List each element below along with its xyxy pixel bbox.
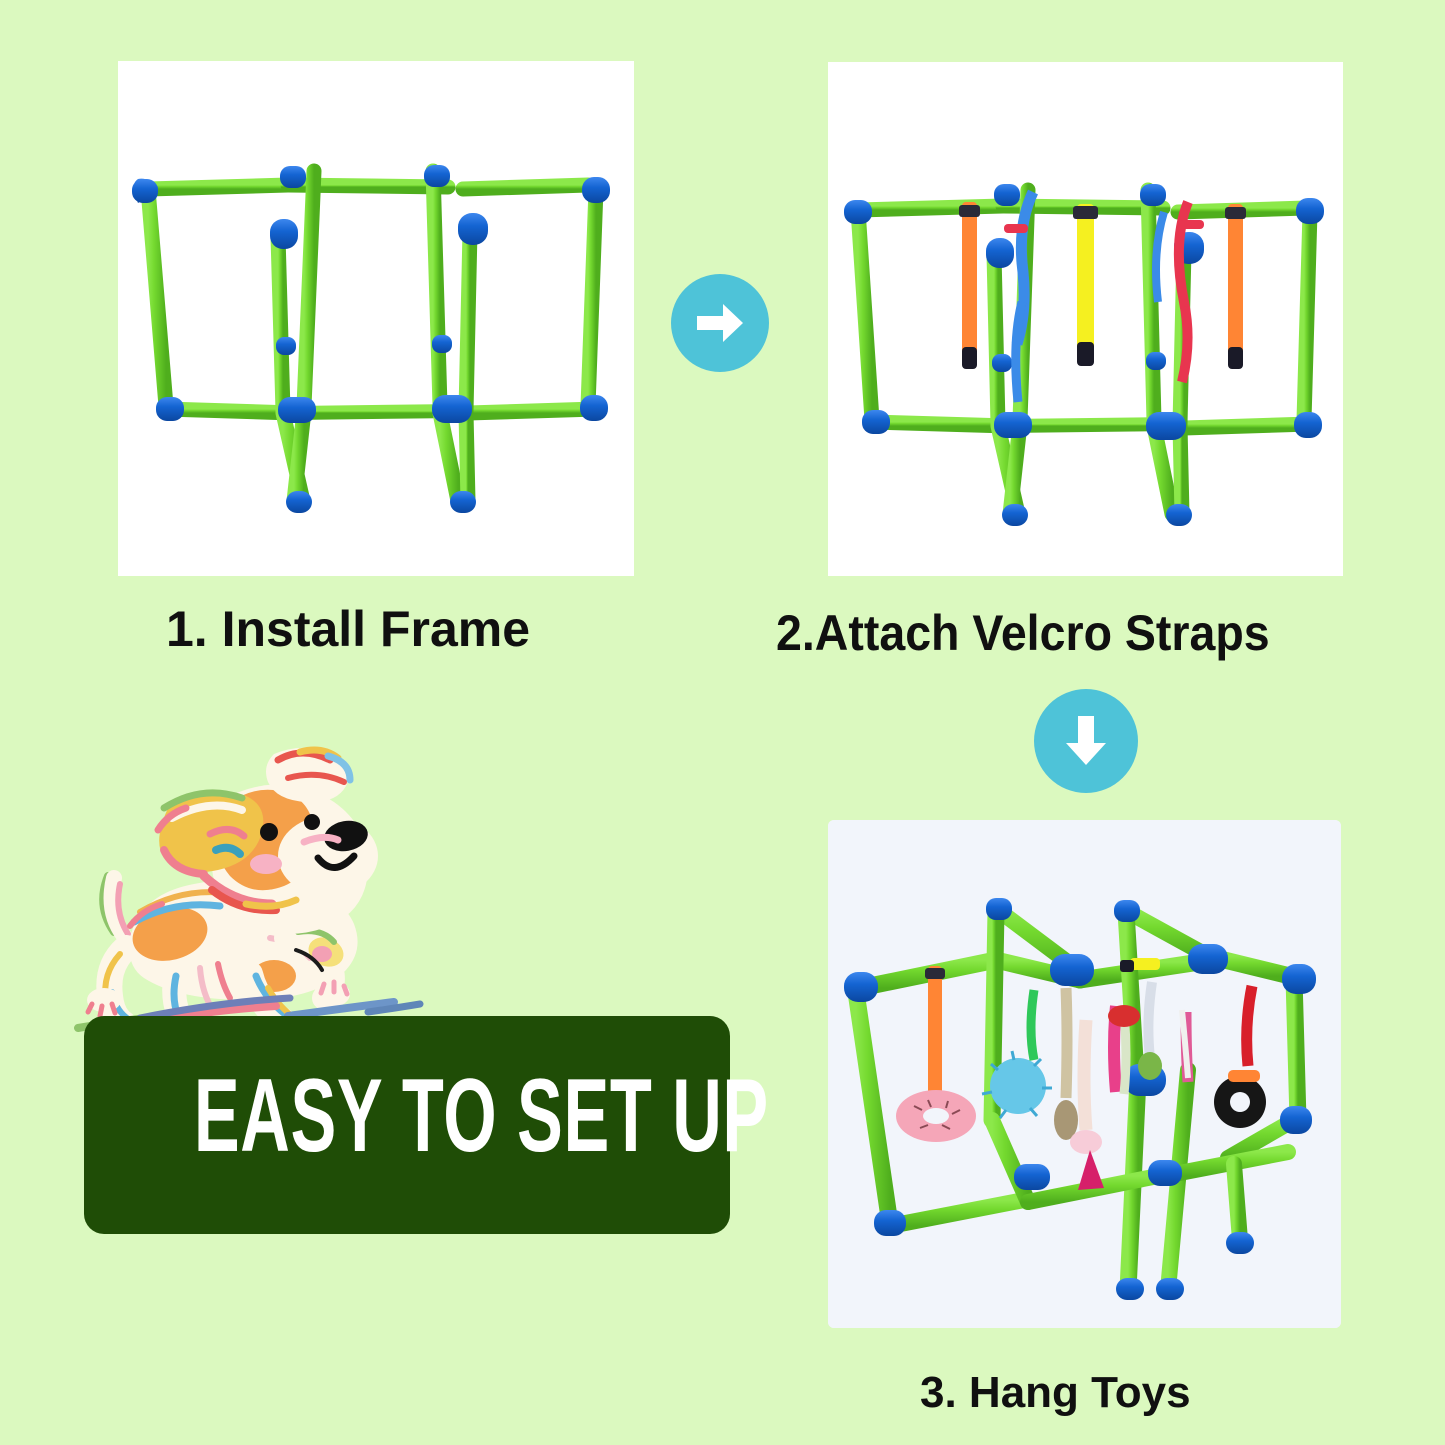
velcro-straps-photo xyxy=(828,62,1343,576)
step-1-caption: 1. Install Frame xyxy=(166,600,530,658)
running-dog-illustration xyxy=(60,726,460,1056)
step-3-caption: 3. Hang Toys xyxy=(920,1368,1191,1418)
step-2-caption: 2.Attach Velcro Straps xyxy=(776,604,1270,662)
hang-toys-illustration xyxy=(828,820,1341,1328)
frame-assembly-photo xyxy=(118,61,634,576)
arrow-down-icon xyxy=(1034,689,1138,793)
arrow-right-icon xyxy=(671,274,769,372)
banner-label: EASY TO SET UP xyxy=(194,1064,620,1168)
frame-assembly-illustration xyxy=(118,61,634,576)
velcro-straps-illustration xyxy=(828,62,1343,576)
hang-toys-photo xyxy=(828,820,1341,1328)
infographic-stage: 1. Install Frame 2.Attach Velcro Straps … xyxy=(0,0,1445,1445)
easy-to-set-up-banner: EASY TO SET UP xyxy=(84,1016,730,1234)
